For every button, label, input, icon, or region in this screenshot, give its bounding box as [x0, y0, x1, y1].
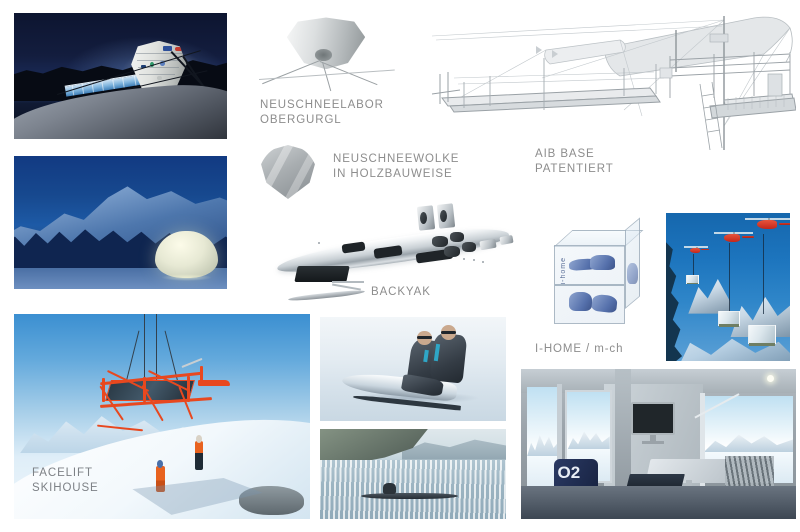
airlifted-cabin	[748, 325, 776, 344]
caption-aib-base: AIB BASE PATENTIERT	[535, 147, 614, 176]
helicopter-near	[753, 216, 785, 233]
render-aib-base-line-drawing	[424, 6, 796, 151]
caption-ihome: I-HOME / m-ch	[535, 342, 623, 357]
blue-figure	[590, 255, 615, 270]
accessory-roller	[450, 232, 464, 242]
wall-tv	[631, 402, 675, 435]
sling-line	[763, 234, 764, 314]
image-sled-riders	[320, 317, 506, 421]
seat-pad	[295, 266, 351, 282]
pod-shell	[287, 17, 365, 69]
accessory-bracket	[499, 235, 513, 245]
accessory-roller	[444, 246, 460, 257]
caption-facelift: FACELIFT SKIHOUSE	[32, 466, 99, 495]
helicopter-far	[688, 246, 704, 255]
image-heli-lift-cabins	[666, 213, 790, 361]
caption-neuschneewolke: NEUSCHNEEWOLKE IN HOLZBAUWEISE	[333, 152, 459, 181]
image-night-lab-pod	[14, 13, 227, 139]
pod-leg	[262, 60, 320, 84]
paddler	[383, 483, 396, 494]
cone-volume	[258, 145, 318, 199]
render-neuschneewolke-cone	[258, 145, 318, 199]
bag-logo: O2	[558, 465, 581, 480]
render-ihome-cube: i-home	[548, 228, 644, 332]
sling-line	[729, 243, 730, 314]
sling-line	[693, 254, 694, 275]
lake-surface	[320, 460, 506, 519]
lift-cable	[156, 314, 157, 380]
rider-back-goggles	[441, 331, 456, 335]
airlifted-cabin	[686, 275, 699, 284]
image-blue-mountain-cloud	[14, 156, 227, 289]
image-facelift-skihouse: FACELIFT SKIHOUSE	[14, 314, 310, 519]
floor	[521, 486, 796, 519]
image-kayak-on-lake	[320, 429, 506, 519]
caption-neuschneelabor: NEUSCHNEELABOR OBERGURGL	[260, 98, 384, 127]
kayak-hull-on-water	[361, 493, 458, 499]
lift-cable	[144, 314, 145, 380]
portfolio-board: FACELIFT SKIHOUSE	[0, 0, 800, 532]
pod-opening	[315, 49, 332, 61]
image-cabin-interior: O2	[521, 369, 796, 519]
render-backyak-seat-rig	[288, 266, 372, 300]
worker-standing	[195, 441, 204, 470]
accessory-clamp	[420, 212, 427, 224]
rider-front-goggles	[417, 336, 432, 340]
accessory-roller	[432, 236, 448, 247]
blue-figure	[627, 263, 639, 284]
caption-backyak: BACKYAK	[371, 285, 431, 300]
blue-figure	[569, 292, 592, 311]
helicopter-mid	[721, 231, 747, 245]
accessory-clamp	[440, 210, 447, 222]
ceiling-spotlight	[767, 375, 774, 382]
render-neuschneelabor-pod	[256, 16, 396, 88]
pontoon-float	[288, 289, 365, 302]
tv-base	[642, 441, 664, 444]
skihouse-frame	[97, 376, 233, 446]
accessory-roller	[462, 242, 476, 252]
ihome-side-label: i-home	[560, 257, 567, 284]
airlifted-cabin	[718, 311, 740, 326]
